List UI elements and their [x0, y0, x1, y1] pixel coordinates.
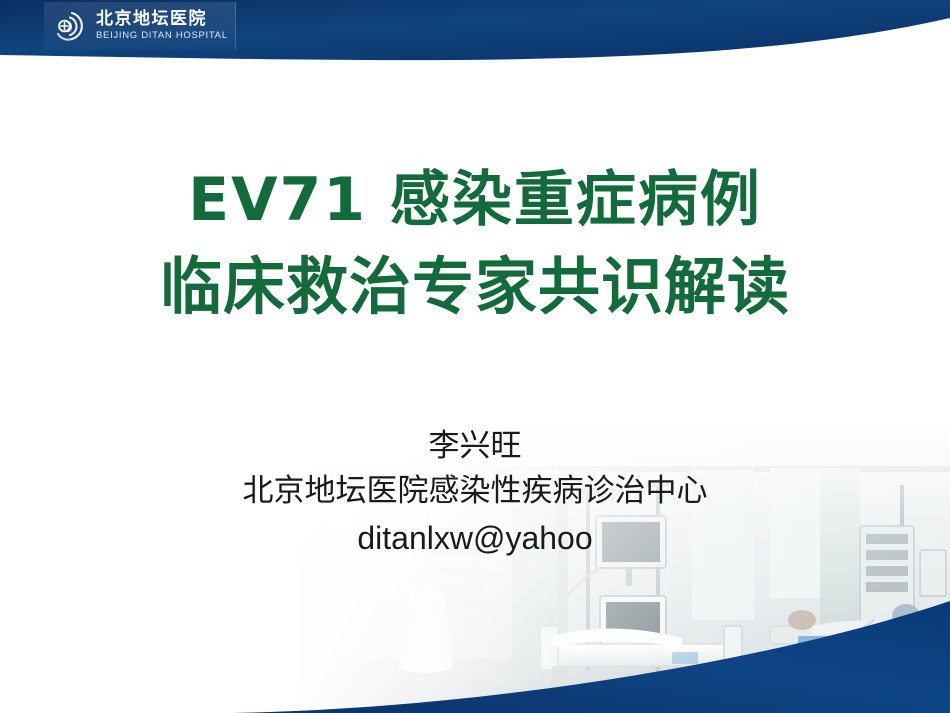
- title-line-2: 临床救治专家共识解读: [0, 243, 950, 331]
- slide-title: EV71 感染重症病例 临床救治专家共识解读: [0, 158, 950, 331]
- presenter-affiliation: 北京地坛医院感染性疾病诊治中心: [0, 469, 950, 514]
- title-line-1: EV71 感染重症病例: [0, 158, 950, 243]
- slide-subtitle: 李兴旺 北京地坛医院感染性疾病诊治中心 ditanlxw@yahoo: [0, 424, 950, 561]
- presenter-email: ditanlxw@yahoo: [0, 515, 950, 562]
- presentation-slide: 北京地坛医院 BEIJING DITAN HOSPITAL EV71 感染重症病…: [0, 0, 950, 713]
- footer-wave: [0, 593, 950, 713]
- presenter-name: 李兴旺: [0, 424, 950, 469]
